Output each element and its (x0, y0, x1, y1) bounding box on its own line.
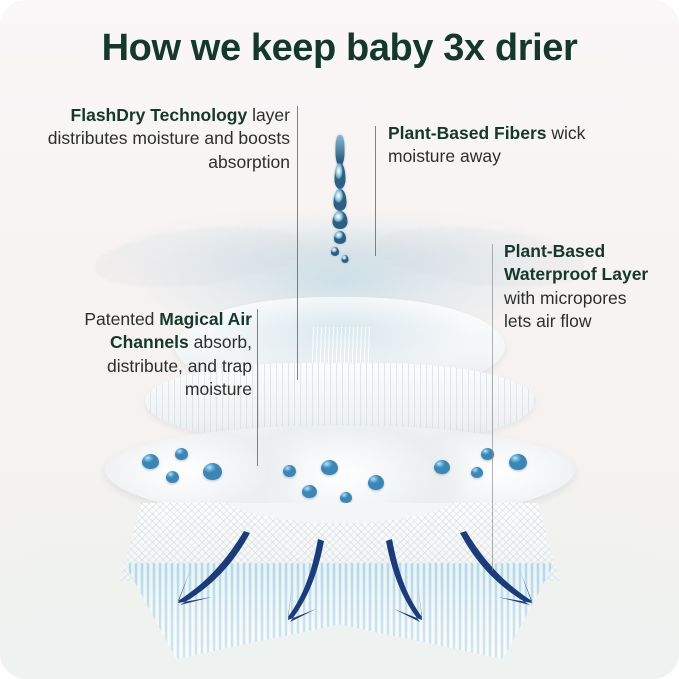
callout-channels-lead: Patented (84, 309, 159, 329)
gel-bead (340, 492, 352, 503)
callout-magical-air-channels: Patented Magical Air Channels absorb, di… (58, 308, 252, 402)
gel-bead (142, 454, 159, 469)
gel-bead (509, 454, 527, 470)
fiber-wing-left (91, 218, 306, 296)
gel-bead (175, 448, 188, 460)
water-droplet-icon (335, 135, 344, 165)
leader-line-air-channels (257, 309, 258, 466)
callout-fibers-title: Plant-Based Fibers (388, 123, 547, 143)
callout-waterproof-title: Plant-Based Waterproof Layer (504, 241, 648, 284)
water-droplet-icon (333, 189, 346, 211)
water-droplet-icon (334, 163, 345, 189)
gel-bead (203, 463, 222, 480)
gel-bead (166, 471, 179, 483)
callout-plant-based-waterproof-layer: Plant-Based Waterproof Layer with microp… (504, 240, 656, 334)
page-title: How we keep baby 3x drier (0, 27, 679, 70)
airflow-arrows (0, 525, 679, 655)
airflow-arrow-icon (288, 539, 324, 622)
leader-line-waterproof (492, 244, 493, 571)
leader-line-flashdry (297, 106, 298, 380)
callout-flashdry-title: FlashDry Technology (71, 105, 248, 125)
water-droplet-icon (334, 231, 346, 244)
gel-bead (283, 465, 296, 477)
gel-bead (302, 485, 317, 498)
callout-plant-based-fibers: Plant-Based Fibers wick moisture away (388, 122, 618, 169)
leader-line-fibers (375, 126, 376, 256)
water-droplet-icon (341, 255, 348, 263)
gel-bead (434, 460, 450, 474)
gel-bead (368, 475, 384, 490)
water-droplet-icon (331, 247, 339, 256)
callout-flashdry: FlashDry Technology layer distributes mo… (24, 104, 290, 174)
airflow-arrow-icon (178, 531, 250, 605)
water-droplet-icon (332, 211, 347, 229)
infographic-card: How we keep baby 3x drier (0, 0, 679, 679)
callout-waterproof-body: with micropores lets air flow (504, 288, 627, 331)
gel-bead (321, 460, 338, 475)
airflow-arrow-icon (386, 539, 422, 622)
gel-bead (471, 467, 483, 478)
water-droplet-stream (322, 135, 358, 305)
airflow-arrow-icon (460, 531, 532, 605)
